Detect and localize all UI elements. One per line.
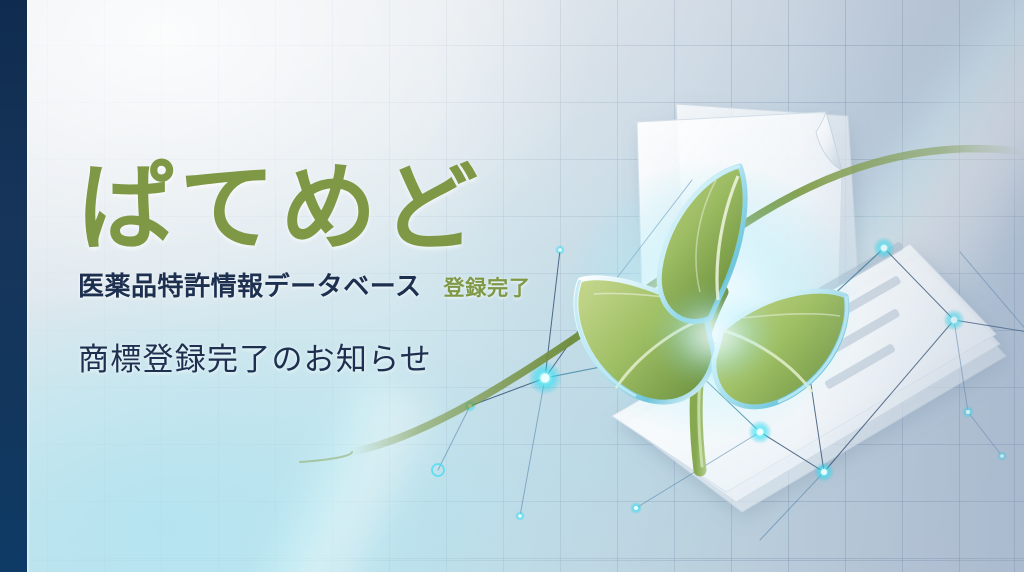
left-accent-bar-edge (27, 0, 30, 572)
subtitle: 医薬品特許情報データベース (78, 266, 421, 303)
subtitle-row: 医薬品特許情報データベース 登録完了 (78, 266, 598, 303)
text-block: ぱてめど 医薬品特許情報データベース 登録完了 商標登録完了のお知らせ (78, 160, 598, 379)
brand-title: ぱてめど (78, 160, 598, 258)
status-badge: 登録完了 (443, 272, 530, 302)
banner-root: ぱてめど 医薬品特許情報データベース 登録完了 商標登録完了のお知らせ (0, 0, 1024, 572)
left-accent-bar (0, 0, 27, 572)
headline: 商標登録完了のお知らせ (78, 334, 598, 379)
sweeping-green-arc-tail (300, 452, 352, 462)
plant-core-glow (652, 286, 776, 386)
